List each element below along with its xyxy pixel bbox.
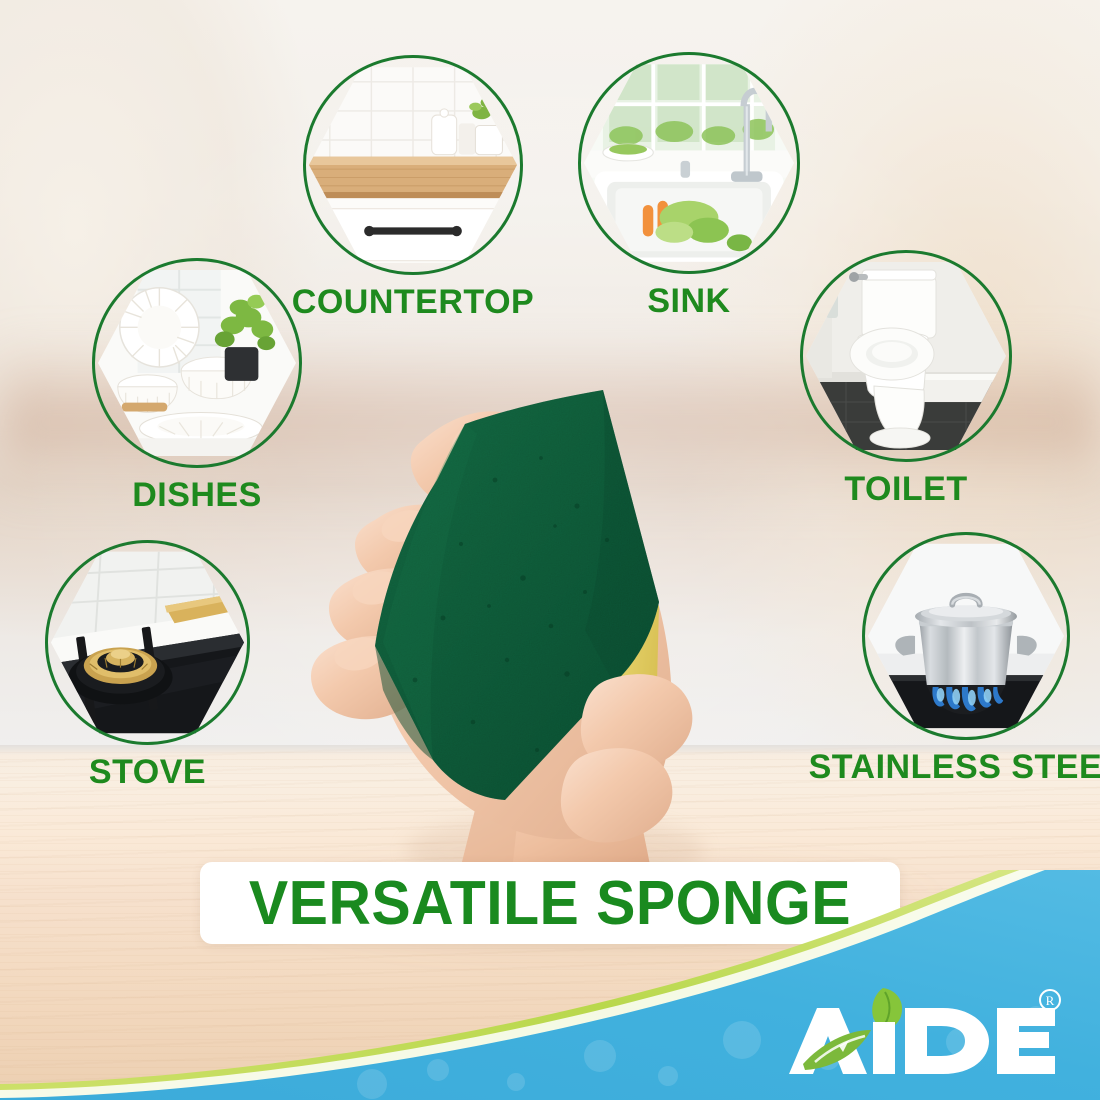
- feature-label-toilet: TOILET: [844, 470, 967, 509]
- feature-ring-stainless-steel: [862, 532, 1070, 740]
- brand-logo: R: [787, 986, 1062, 1078]
- registered-trademark-icon: R: [1040, 990, 1060, 1010]
- svg-text:R: R: [1046, 993, 1055, 1008]
- feature-label-stove: STOVE: [89, 753, 206, 792]
- feature-stainless-steel: STAINLESS STEEL: [862, 532, 1070, 740]
- hand-holding-sponge: [255, 330, 815, 890]
- feature-label-stainless-steel: STAINLESS STEEL: [809, 748, 1100, 787]
- feature-label-sink: SINK: [647, 282, 730, 321]
- feature-ring-sink: [578, 52, 800, 274]
- feature-countertop: COUNTERTOP: [303, 55, 523, 275]
- feature-ring-countertop: [303, 55, 523, 275]
- feature-label-dishes: DISHES: [132, 476, 262, 515]
- product-image-canvas: COUNTERTOP: [0, 0, 1100, 1100]
- feature-toilet: TOILET: [800, 250, 1012, 462]
- feature-ring-stove: [45, 540, 250, 745]
- feature-label-countertop: COUNTERTOP: [292, 283, 534, 322]
- feature-ring-toilet: [800, 250, 1012, 462]
- feature-sink: SINK: [578, 52, 800, 274]
- feature-stove: STOVE: [45, 540, 250, 745]
